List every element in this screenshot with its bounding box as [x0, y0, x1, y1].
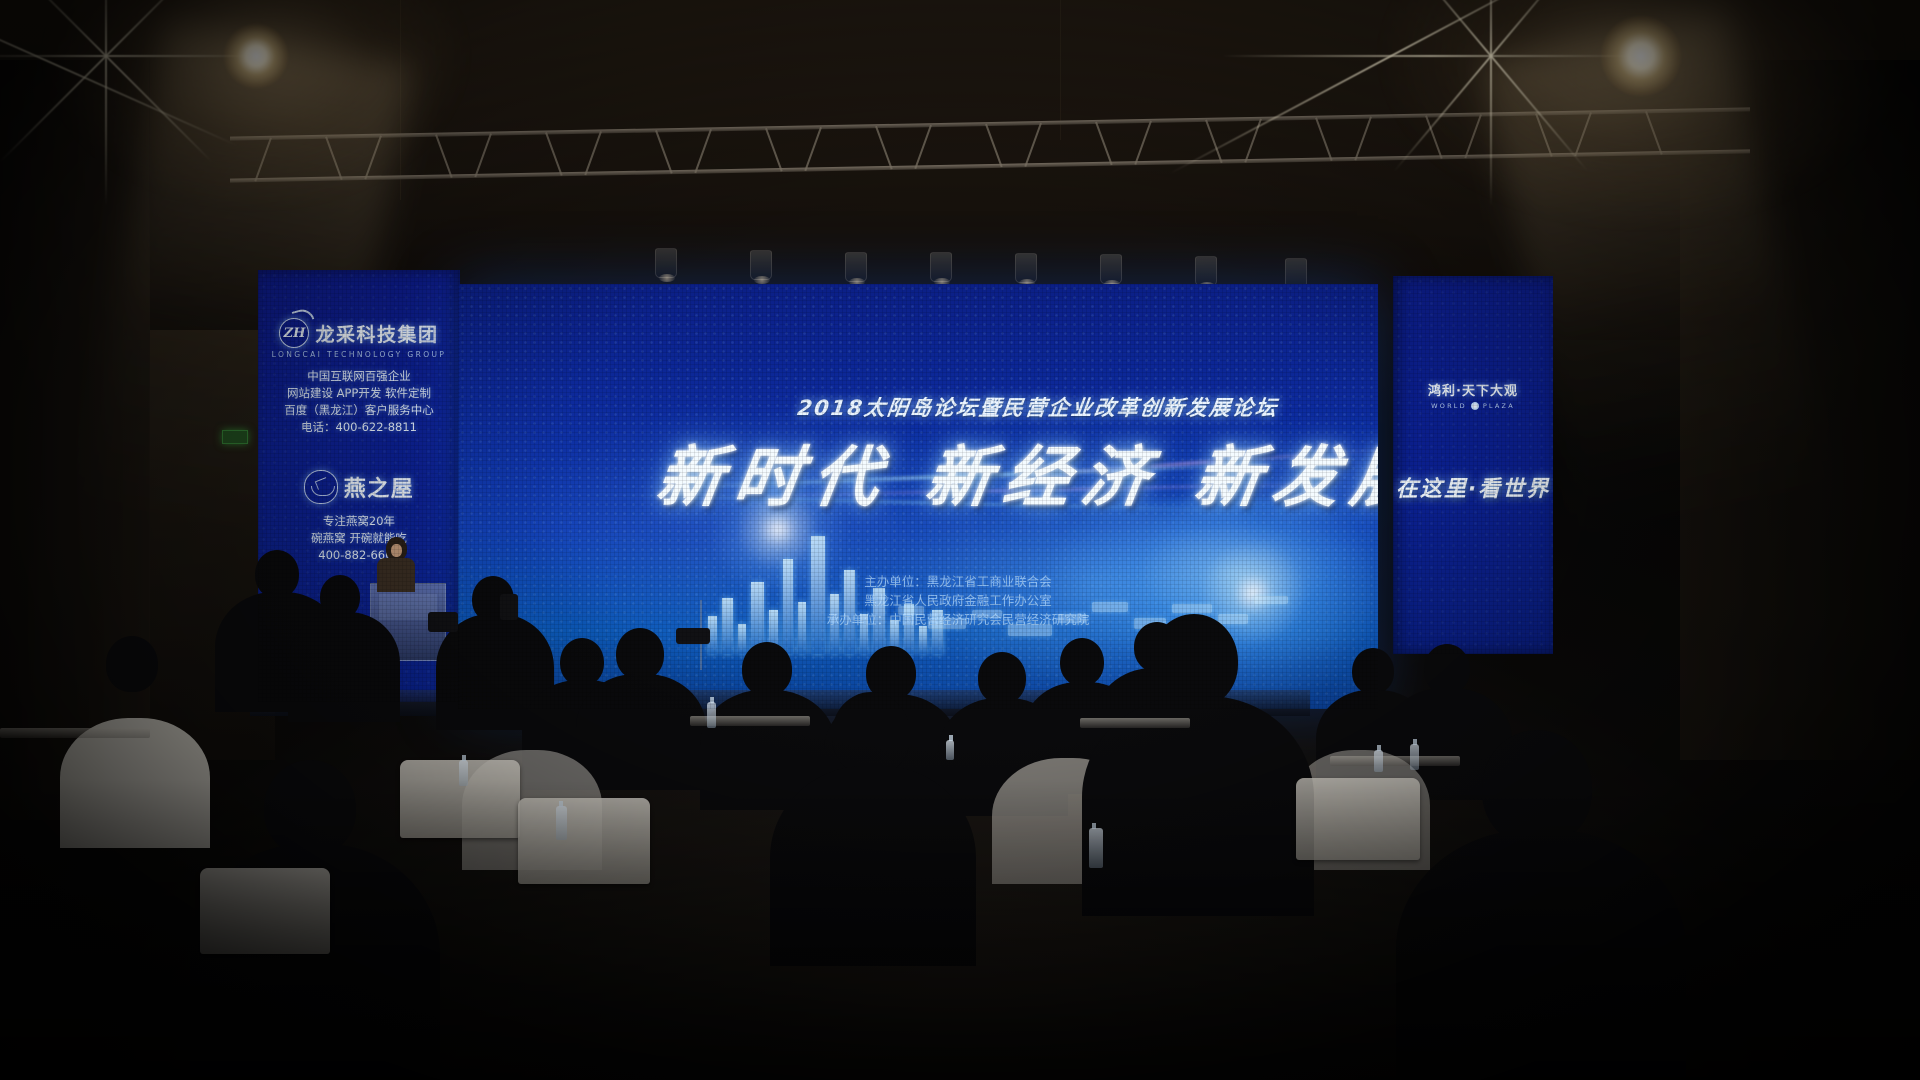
water-bottle: [1410, 744, 1419, 770]
worldplaza-slogan: 在这里·看世界: [1393, 471, 1553, 503]
audience-table: [0, 728, 150, 738]
truss-brace: [435, 134, 453, 178]
truss-brace: [1134, 121, 1152, 165]
audience-shoulders-foreground: [770, 766, 976, 966]
longcai-line-2: 网站建设 APP开发 软件定制: [258, 385, 460, 402]
longcai-line-4: 电话：400-622-8811: [258, 419, 460, 436]
conference-photo-scene: ZH 龙采科技集团 LONGCAI TECHNOLOGY GROUP 中国互联网…: [0, 0, 1920, 1080]
water-bottle: [556, 806, 567, 840]
truss-brace: [545, 132, 563, 176]
globe-dot-icon: [1471, 402, 1479, 410]
truss-brace: [765, 128, 783, 172]
video-camera: [428, 612, 458, 632]
truss-brace: [584, 131, 602, 175]
stage-light-fixture: [750, 250, 772, 280]
truss-brace: [1244, 118, 1262, 162]
event-headline: 新时代 新经济 新发展: [651, 424, 1378, 520]
truss-brace: [474, 133, 492, 177]
audience-chair: [1296, 778, 1420, 860]
worldplaza-name-cn: 鸿利·天下大观: [1393, 380, 1553, 399]
stage-light-fixture: [845, 252, 867, 282]
truss-brace: [1024, 123, 1042, 167]
audience-head: [742, 642, 792, 696]
organizer-line-1: 主办单位：黑龙江省工商业联合会: [748, 572, 1168, 591]
stage-light-fixture: [1100, 254, 1122, 284]
audience-head: [1424, 644, 1470, 694]
truss-brace: [875, 126, 893, 170]
audience-shoulders-foreground: [1082, 696, 1314, 916]
audience-head: [560, 638, 604, 686]
event-subtitle: 2018太阳岛论坛暨民营企业改革创新发展论坛: [756, 392, 1320, 422]
water-bottle: [946, 740, 954, 760]
presenter-face: [391, 544, 402, 557]
stage-light-fixture: [1195, 256, 1217, 286]
audience-shoulders: [288, 612, 400, 722]
video-camera: [676, 628, 710, 644]
truss-brace: [985, 124, 1003, 168]
truss-brace: [694, 129, 712, 173]
water-bottle: [1089, 828, 1103, 868]
longcai-emblem-icon: ZH: [279, 318, 309, 348]
truss-brace: [655, 130, 673, 174]
audience-shoulders-foreground: [1396, 830, 1686, 1080]
led-panel-right: 鸿利·天下大观 WORLD PLAZA 在这里·看世界: [1393, 276, 1553, 654]
yanzhiwu-name-cn: 燕之屋: [344, 471, 415, 503]
water-bottle: [707, 702, 716, 728]
audience-table: [1330, 756, 1460, 766]
truss-brace: [914, 125, 932, 169]
water-bottle: [459, 760, 468, 786]
stage-light-fixture: [655, 248, 677, 278]
sponsor-block-longcai: ZH 龙采科技集团 LONGCAI TECHNOLOGY GROUP 中国互联网…: [258, 318, 460, 436]
longcai-line-3: 百度（黑龙江）客户服务中心: [258, 402, 460, 419]
worldplaza-en-right: PLAZA: [1483, 402, 1515, 410]
longcai-name-en: LONGCAI TECHNOLOGY GROUP: [258, 350, 460, 359]
truss-brace: [1315, 117, 1333, 161]
audience-head-foreground: [1482, 730, 1592, 846]
stage-light-fixture: [930, 252, 952, 282]
longcai-info-lines: 中国互联网百强企业 网站建设 APP开发 软件定制 百度（黑龙江）客户服务中心 …: [258, 368, 460, 436]
audience-head: [616, 628, 664, 680]
yanzhiwu-line-1: 专注燕窝20年: [258, 513, 460, 530]
audience-table: [1080, 718, 1190, 728]
yanzhiwu-logo: 燕之屋: [258, 470, 460, 504]
sponsor-block-yanzhiwu: 燕之屋 专注燕窝20年 碗燕窝 开碗就能吃 400-882-6666: [258, 470, 460, 564]
audience-chair: [518, 798, 650, 884]
worldplaza-brand: 鸿利·天下大观 WORLD PLAZA: [1393, 380, 1553, 410]
audience-head: [255, 550, 299, 598]
water-bottle: [1374, 750, 1383, 772]
truss-brace: [1205, 119, 1223, 163]
longcai-name-cn: 龙采科技集团: [315, 320, 438, 347]
birdnest-emblem-icon: [304, 470, 338, 504]
yanzhiwu-line-2: 碗燕窝 开碗就能吃: [258, 530, 460, 547]
led-dot-texture: [1393, 276, 1553, 654]
presenter-body: [377, 558, 415, 592]
longcai-line-1: 中国互联网百强企业: [258, 368, 460, 385]
audience-head-foreground: [1150, 614, 1238, 708]
audience-shoulders: [576, 674, 706, 790]
audience-head-foreground: [264, 760, 356, 856]
logo-badge-text: ZH: [280, 319, 308, 347]
audience-head: [978, 652, 1026, 704]
camera-operator-gear: [500, 594, 518, 620]
audience-head: [1352, 648, 1394, 694]
audience-head: [106, 636, 158, 692]
longcai-logo: ZH 龙采科技集团: [258, 318, 460, 348]
worldplaza-en-left: WORLD: [1431, 402, 1467, 410]
audience-chair: [200, 868, 330, 954]
audience-head-foreground: [832, 692, 910, 776]
stage-light-fixture: [1015, 253, 1037, 283]
truss-brace: [1095, 122, 1113, 166]
seated-audience: [0, 600, 1920, 1080]
truss-brace: [804, 127, 822, 171]
audience-head: [1060, 638, 1104, 686]
worldplaza-name-en: WORLD PLAZA: [1393, 402, 1553, 410]
